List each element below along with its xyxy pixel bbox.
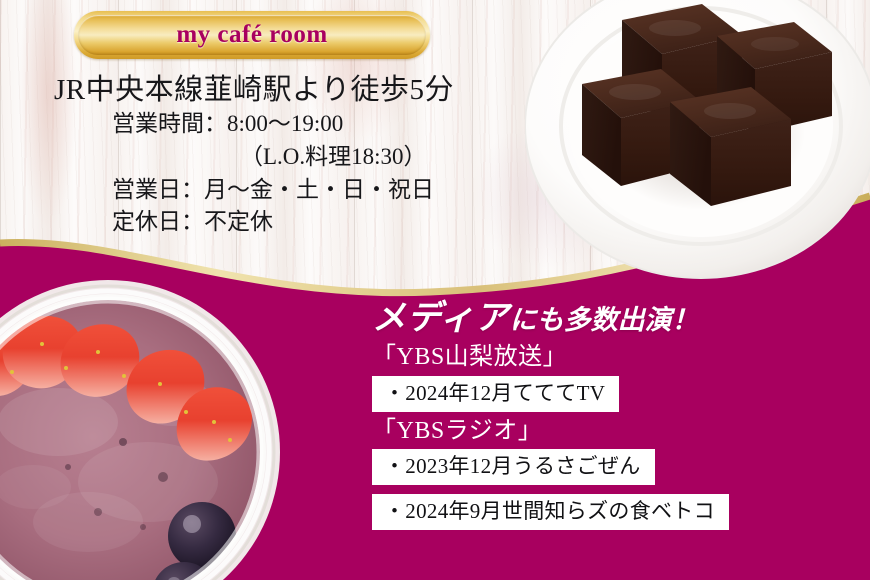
media-station-1: 「YBS山梨放送」: [372, 343, 842, 371]
flyer-canvas: my café room JR中央本線韮崎駅より徒歩5分 営業時間：8:00〜1…: [0, 0, 870, 580]
shop-name-banner: my café room: [74, 11, 430, 59]
business-hours-line: 営業時間：8:00〜19:00: [0, 108, 560, 141]
open-days-line: 営業日：月〜金・土・日・祝日: [0, 174, 560, 207]
media-headline-rest: にも多数出演！: [510, 305, 699, 335]
media-station-2: 「YBSラジオ」: [372, 417, 842, 445]
media-program-row-2: ・2023年12月うるさごぜん: [372, 445, 842, 485]
media-program-3: ・2024年9月世間知らズの食ベトコ: [372, 494, 729, 530]
shop-name-title: my café room: [176, 21, 327, 49]
media-program-2: ・2023年12月うるさごぜん: [372, 449, 655, 485]
closed-days-line: 定休日：不定休: [0, 206, 560, 239]
last-order-line: （L.O.料理18:30）: [0, 141, 560, 174]
access-line: JR中央本線韮崎駅より徒歩5分: [0, 72, 560, 108]
media-appearances-block: メディアにも多数出演！ 「YBS山梨放送」 ・2024年12月てててTV 「YB…: [372, 300, 842, 530]
acai-bowl-photo: [0, 272, 338, 580]
media-headline: メディアにも多数出演！: [372, 300, 842, 337]
media-program-row-1: ・2024年12月てててTV: [372, 372, 842, 412]
chocolate-plate-photo: [525, 0, 870, 294]
media-program-row-3: ・2024年9月世間知らズの食ベトコ: [372, 490, 842, 530]
media-program-1: ・2024年12月てててTV: [372, 376, 619, 412]
banner-inner: my café room: [78, 15, 426, 55]
media-headline-accent: メディア: [372, 300, 510, 337]
shop-info-block: JR中央本線韮崎駅より徒歩5分 営業時間：8:00〜19:00 （L.O.料理1…: [0, 72, 560, 239]
